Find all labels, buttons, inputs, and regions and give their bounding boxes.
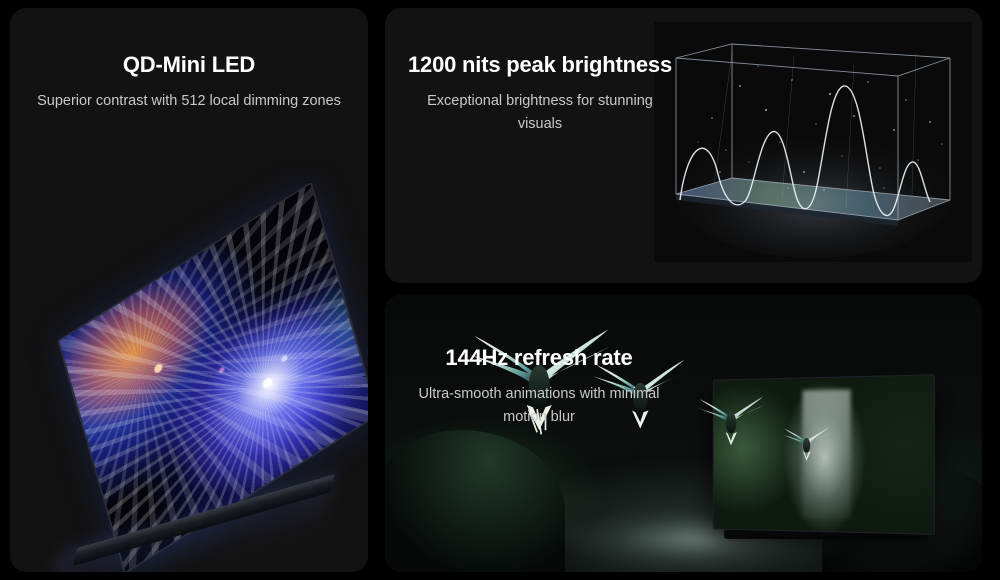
qd-mini-led-visual [10, 158, 368, 572]
wireframe-lightbox-icon [654, 22, 972, 262]
card-subtitle: Exceptional brightness for stunning visu… [405, 90, 675, 135]
feature-card-refresh-rate[interactable]: 144Hz refresh rate Ultra-smooth animatio… [385, 295, 982, 572]
card-title: QD-Mini LED [34, 50, 344, 79]
peak-brightness-visual [654, 22, 972, 262]
tv-screen-content [714, 375, 934, 533]
peak-brightness-copy: 1200 nits peak brightness Exceptional br… [405, 50, 675, 135]
tv-screen-forest-scene [713, 374, 935, 535]
card-subtitle: Superior contrast with 512 local dimming… [34, 90, 344, 112]
waterfall-cliff [803, 390, 852, 520]
feature-grid: QD-Mini LED Superior contrast with 512 l… [0, 0, 1000, 580]
feature-card-peak-brightness[interactable]: 1200 nits peak brightness Exceptional br… [385, 8, 982, 283]
qd-mini-led-copy: QD-Mini LED Superior contrast with 512 l… [34, 50, 344, 113]
refresh-rate-visual [385, 295, 982, 572]
feature-card-qd-mini-led[interactable]: QD-Mini LED Superior contrast with 512 l… [10, 8, 368, 572]
card-title: 1200 nits peak brightness [405, 50, 675, 79]
